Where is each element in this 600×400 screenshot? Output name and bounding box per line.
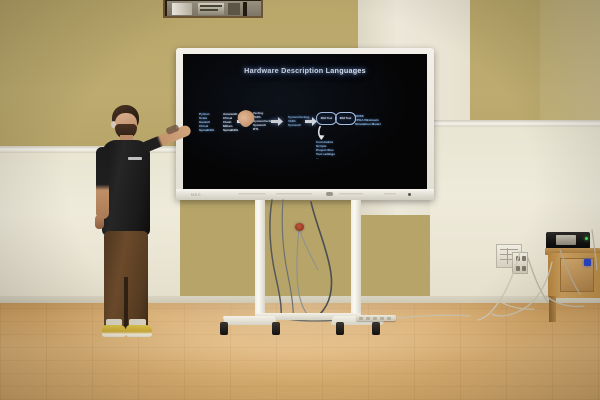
strip-socket-5 <box>387 317 391 320</box>
eda-outputs: GDSII FPGA Bitstream Simulation Model <box>355 114 381 126</box>
outlet-socket-3 <box>516 266 520 271</box>
stand-caster-1 <box>220 322 228 335</box>
bezel-vent-3 <box>339 193 363 196</box>
presenter-shoe-right <box>126 325 152 337</box>
phone-handset <box>556 235 576 245</box>
side-table-leg <box>549 296 556 322</box>
presenter-shoe-left <box>102 325 126 337</box>
panel-interior <box>167 1 261 16</box>
outlet-socket-2 <box>522 256 526 261</box>
presenter-leg-gap <box>124 277 128 329</box>
bezel-vent-1 <box>238 193 266 196</box>
wall-cable-grommet <box>295 223 304 231</box>
display-bottom-bezel: NEC <box>176 189 434 200</box>
stand-caster-2 <box>272 322 280 335</box>
panel-breaker-c <box>228 3 240 15</box>
panel-wire-b <box>200 9 218 11</box>
ceiling-electrical-panel <box>163 0 263 18</box>
tshirt-logo-icon <box>128 157 142 160</box>
output-line-3: Simulation Model <box>355 122 381 126</box>
wall-box-line-1 <box>500 249 518 250</box>
bezel-vent-4 <box>384 193 396 196</box>
slide-title: Hardware Description Languages <box>183 66 427 75</box>
slide-column-design-entry: Python Scala Haskell Chisel SpinalHDL <box>199 112 215 132</box>
bezel-sensor-icon <box>326 192 333 196</box>
bezel-vent-2 <box>276 193 312 196</box>
flow-arrow-2 <box>271 117 283 126</box>
status-led-icon <box>585 237 588 240</box>
chair-rail-right <box>430 120 600 127</box>
panel-breaker-a <box>172 3 192 15</box>
display-screen[interactable]: Hardware Description Languages Python Sc… <box>183 54 427 189</box>
wall-corner-right <box>540 0 600 120</box>
presentation-slide: Hardware Description Languages Python Sc… <box>183 54 427 189</box>
stand-caster-4 <box>372 322 380 335</box>
outlet-socket-4 <box>522 266 526 271</box>
stand-column-right <box>351 200 361 320</box>
eda-input-5: ... <box>316 156 335 160</box>
stand-caster-3 <box>336 322 344 335</box>
desktop-phone[interactable] <box>546 232 590 249</box>
floor-power-strip[interactable] <box>356 315 396 321</box>
strip-socket-2 <box>366 317 370 320</box>
wall-outlet-plate[interactable] <box>512 252 528 274</box>
presenter-left-arm <box>96 147 109 219</box>
eda-input-hook-arrow <box>317 124 326 140</box>
col2-line-5: SpinalHDL <box>223 128 239 132</box>
eda-tool-2: EDA Tool <box>335 112 356 125</box>
panel-conduit <box>243 2 247 16</box>
wall-box-line-4 <box>507 248 508 264</box>
presenter-left-hand <box>95 215 104 229</box>
panel-wire-a <box>200 5 222 7</box>
eda-tool-inputs: Constraints Scripts Project files Tool s… <box>316 140 335 160</box>
strip-socket-4 <box>380 317 384 320</box>
outlet-socket-1 <box>516 256 520 261</box>
stand-foot-left <box>223 316 278 325</box>
presenter-tshirt <box>102 140 150 236</box>
strip-socket-1 <box>359 317 363 320</box>
presenter <box>84 105 199 360</box>
screenshot-scene: Hardware Description Languages Python Sc… <box>0 0 600 400</box>
col1-line-5: SpinalHDL <box>199 128 215 132</box>
strip-socket-3 <box>373 317 377 320</box>
col3-line-5: RTL <box>253 127 274 131</box>
blue-connector-plug[interactable] <box>584 259 591 266</box>
stand-column-left <box>255 200 265 320</box>
power-led-icon <box>408 193 411 196</box>
